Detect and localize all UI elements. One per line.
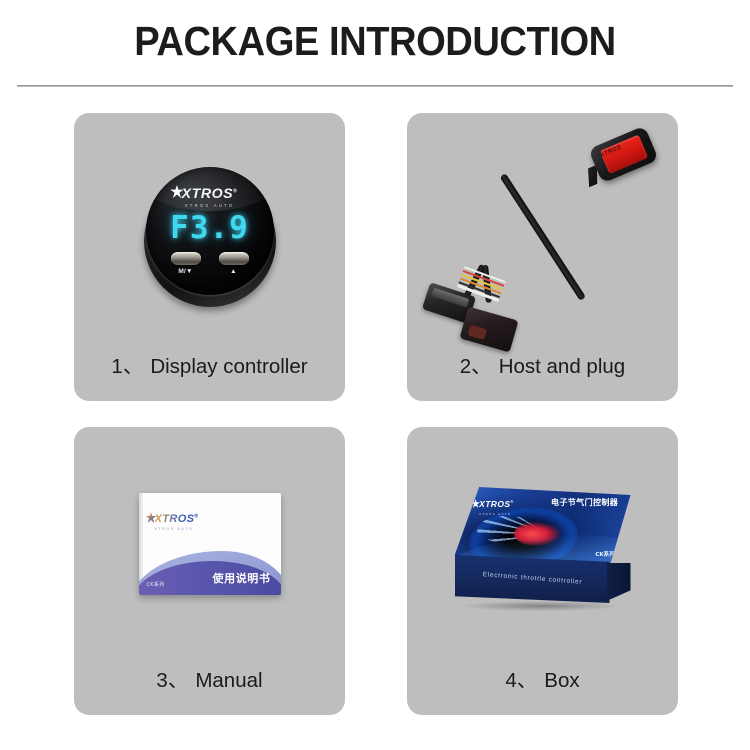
mode-down-button-label: M/▼ xyxy=(171,268,201,275)
brand-name: XTROS xyxy=(182,186,233,201)
box-title-cn: 电子节气门控制器 xyxy=(551,497,618,508)
box-brand-logo: XTROS® XTROS AUTO xyxy=(479,495,514,516)
brand-subtitle: XTROS AUTO xyxy=(146,204,274,208)
brand-wordmark: XTROS® xyxy=(182,187,238,201)
package-item-display-controller[interactable]: XTROS® XTROS AUTO F3.9 M/▼ ▲ xyxy=(74,113,345,401)
mode-down-button-group[interactable]: M/▼ xyxy=(171,252,201,275)
box-top-face: XTROS® XTROS AUTO 电子节气门控制器 CK系列 xyxy=(455,487,631,567)
page-header: PACKAGE INTRODUCTION xyxy=(0,0,750,87)
item-number: 2、 xyxy=(460,355,492,378)
dial-brand-logo: XTROS® XTROS AUTO xyxy=(146,186,274,208)
brand-wordmark: XTROS® xyxy=(479,500,514,509)
item-label: Box xyxy=(544,669,579,692)
display-controller-illustration: XTROS® XTROS AUTO F3.9 M/▼ ▲ xyxy=(74,113,345,345)
main-cable xyxy=(500,173,586,301)
brand-name: XTROS xyxy=(155,513,195,525)
package-item-box[interactable]: XTROS® XTROS AUTO 电子节气门控制器 CK系列 Electron… xyxy=(407,427,678,715)
dial-button-row: M/▼ ▲ xyxy=(146,252,274,275)
item-caption: 3、Manual xyxy=(74,663,345,693)
box-side-face xyxy=(607,563,631,601)
box-illustration: XTROS® XTROS AUTO 电子节气门控制器 CK系列 Electron… xyxy=(407,427,678,659)
dial-face: XTROS® XTROS AUTO F3.9 M/▼ ▲ xyxy=(146,167,274,295)
manual-illustration: XTROS® XTROS AUTO 使用说明书 CK系列 xyxy=(74,427,345,659)
connector-female xyxy=(459,306,518,352)
item-caption: 1、Display controller xyxy=(74,349,345,379)
brand-subtitle: XTROS AUTO xyxy=(155,528,199,532)
up-button[interactable] xyxy=(219,252,249,265)
manual-brand-logo: XTROS® XTROS AUTO xyxy=(155,510,199,532)
manual-series-cn: CK系列 xyxy=(147,581,165,588)
box-front-face: Electronic throttle controller xyxy=(455,555,610,603)
up-button-label: ▲ xyxy=(219,268,249,275)
manual-title-cn: 使用说明书 xyxy=(213,570,271,586)
item-number: 1、 xyxy=(111,355,143,378)
registered-mark: ® xyxy=(510,499,513,504)
box-front-text: Electronic throttle controller xyxy=(454,569,609,588)
package-item-host-and-plug[interactable]: XTROS 2、Host and plug xyxy=(407,113,678,401)
host-assembly: XTROS xyxy=(407,113,678,345)
registered-mark: ® xyxy=(233,189,237,195)
product-box: XTROS® XTROS AUTO 电子节气门控制器 CK系列 Electron… xyxy=(455,487,631,607)
brand-wordmark: XTROS® xyxy=(155,514,199,525)
package-item-manual[interactable]: XTROS® XTROS AUTO 使用说明书 CK系列 3、Manual xyxy=(74,427,345,715)
box-drop-shadow xyxy=(461,601,621,611)
package-items-grid: XTROS® XTROS AUTO F3.9 M/▼ ▲ xyxy=(74,113,678,715)
item-caption: 4、Box xyxy=(407,663,678,693)
item-label: Manual xyxy=(195,669,262,692)
item-label: Display controller xyxy=(150,355,307,378)
title-divider xyxy=(17,85,733,87)
manual-booklet: XTROS® XTROS AUTO 使用说明书 CK系列 xyxy=(139,493,281,595)
item-number: 3、 xyxy=(156,669,188,692)
brand-subtitle: XTROS AUTO xyxy=(479,513,514,516)
item-number: 4、 xyxy=(505,669,537,692)
lcd-display-value: F3.9 xyxy=(146,210,274,246)
mode-down-button[interactable] xyxy=(171,252,201,265)
host-and-plug-illustration: XTROS xyxy=(407,113,678,345)
item-label: Host and plug xyxy=(499,355,626,378)
brand-name: XTROS xyxy=(479,499,510,509)
registered-mark: ® xyxy=(194,513,198,519)
page-title: PACKAGE INTRODUCTION xyxy=(26,18,724,65)
host-module: XTROS xyxy=(588,126,659,184)
up-button-group[interactable]: ▲ xyxy=(219,252,249,275)
box-series-cn: CK系列 xyxy=(595,550,614,558)
item-caption: 2、Host and plug xyxy=(407,349,678,379)
round-dial-device: XTROS® XTROS AUTO F3.9 M/▼ ▲ xyxy=(142,165,278,307)
